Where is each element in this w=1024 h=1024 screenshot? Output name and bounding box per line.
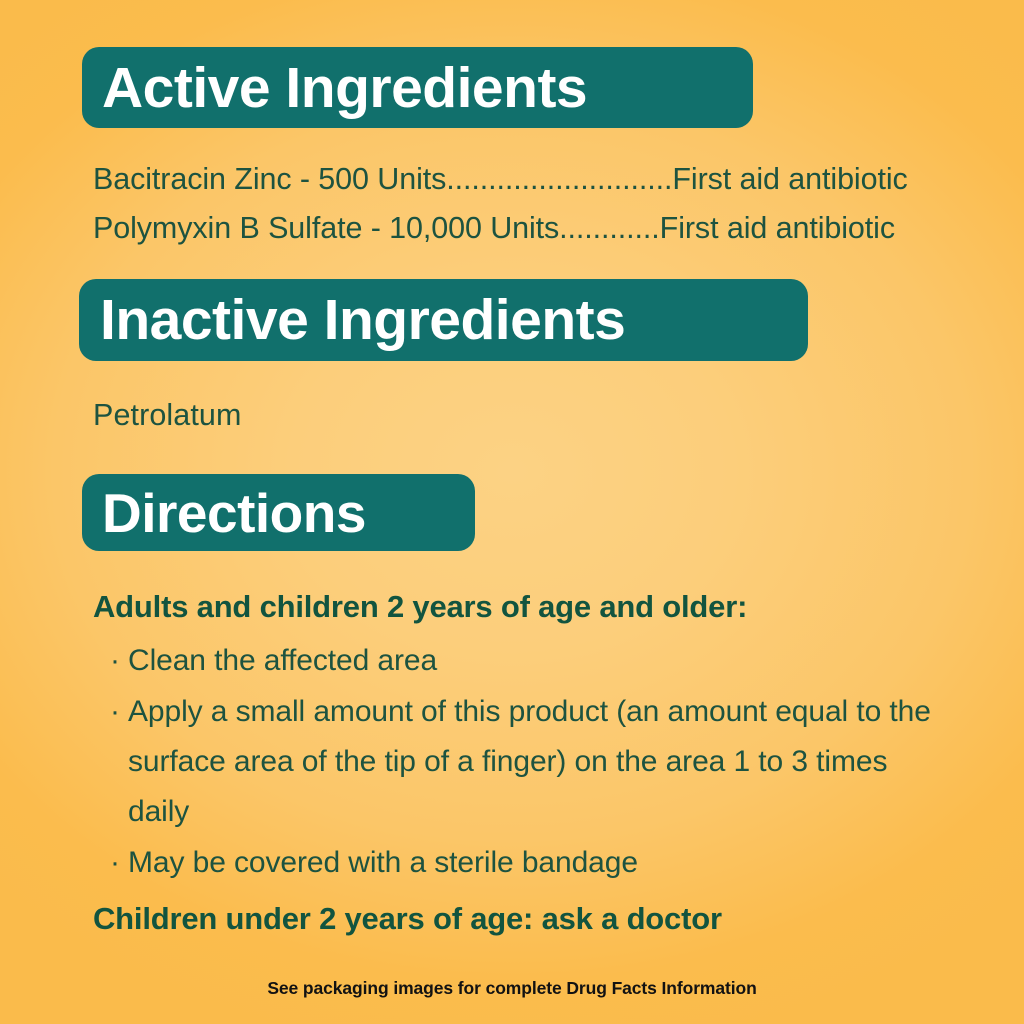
directions-bullet: · Clean the affected area [93,636,953,686]
directions-bullet-text: Clean the affected area [128,644,437,677]
footer-packaging-note: See packaging images for complete Drug F… [0,978,1024,999]
directions-bullet: · May be covered with a sterile bandage [93,838,953,888]
directions-subheading-adults: Adults and children 2 years of age and o… [93,585,953,629]
section-heading-active-ingredients: Active Ingredients [82,47,753,128]
directions-bullet-text: Apply a small amount of this product (an… [128,695,931,828]
section-heading-directions: Directions [82,474,475,551]
active-ingredient-list: Bacitracin Zinc - 500 Units.............… [93,155,1003,253]
bullet-dot-icon: · [110,636,120,686]
section-heading-inactive-ingredients: Inactive Ingredients [79,279,808,361]
directions-bullet: · Apply a small amount of this product (… [93,687,953,837]
directions-block: Adults and children 2 years of age and o… [93,585,953,941]
directions-closing-note: Children under 2 years of age: ask a doc… [93,897,953,941]
inactive-ingredient-value: Petrolatum [93,398,241,433]
active-ingredient-line: Bacitracin Zinc - 500 Units.............… [93,155,1003,204]
bullet-dot-icon: · [110,687,120,737]
directions-bullet-text: May be covered with a sterile bandage [128,846,638,879]
drug-facts-panel: Active Ingredients Bacitracin Zinc - 500… [0,0,1024,1024]
directions-bullet-list: · Clean the affected area · Apply a smal… [93,636,953,888]
active-ingredient-line: Polymyxin B Sulfate - 10,000 Units......… [93,204,1003,253]
bullet-dot-icon: · [110,838,120,888]
